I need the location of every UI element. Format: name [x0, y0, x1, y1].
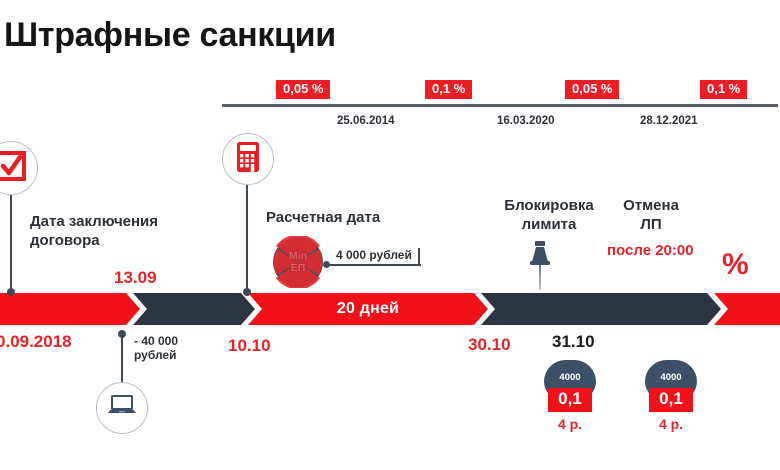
settlement-amount: 4 000 рублей: [336, 248, 412, 262]
payment-note: - 40 000 рублей: [134, 334, 214, 362]
payment-connector: [121, 334, 123, 382]
calculator-icon: [235, 141, 261, 178]
money-badge-1-rate: 0,1: [548, 388, 592, 412]
settlement-heading: Расчетная дата: [266, 208, 380, 227]
checkbox-checked-icon: [0, 150, 27, 187]
percent-symbol: %: [722, 248, 749, 282]
scale-rule: [222, 104, 778, 107]
min-ep-pie: Min ЕП: [270, 236, 326, 288]
amount-leader-tick: [418, 248, 420, 266]
amount-leader-line: [329, 264, 421, 266]
percent-badge-4: 0,1 %: [700, 80, 747, 99]
contract-node-circle: [0, 141, 38, 195]
contract-heading-line2: договора: [30, 231, 210, 250]
block-date-below: 30.10: [468, 335, 511, 355]
laptop-icon: [106, 393, 138, 424]
timeline-segment-3: 20 дней: [248, 293, 488, 325]
scale-date-1: 25.06.2014: [337, 115, 395, 127]
money-badge-2: 4000 0,1 4 р.: [645, 360, 697, 432]
cancel-heading-line2: ЛП: [606, 215, 696, 234]
scale-date-2: 16.03.2020: [497, 115, 555, 127]
money-badge-1-caption: 4 р.: [544, 416, 596, 432]
timeline-bar: 20 дней: [0, 293, 780, 325]
block-heading-line1: Блокировка: [494, 196, 604, 215]
timeline-segment-3-label: 20 дней: [248, 293, 488, 325]
cancel-heading-line1: Отмена: [606, 196, 696, 215]
payment-node-circle: [96, 382, 148, 434]
timeline-segment-2: [133, 293, 255, 325]
block-heading: Блокировка лимита: [494, 196, 604, 234]
settlement-node-circle: [222, 133, 274, 185]
percent-badge-1: 0,05 %: [276, 80, 330, 99]
contract-date-above: 13.09: [114, 268, 157, 288]
min-ep-label: Min ЕП: [270, 236, 326, 288]
money-badge-2-rate: 0,1: [649, 388, 693, 412]
min-ep-line1: Min: [289, 250, 307, 262]
money-badge-2-caption: 4 р.: [645, 416, 697, 432]
settlement-date-below: 10.10: [228, 336, 271, 356]
block-heading-line2: лимита: [494, 215, 604, 234]
page-title: Штрафные санкции: [4, 16, 336, 55]
contract-connector: [10, 195, 12, 291]
scale-date-3: 28.12.2021: [640, 115, 698, 127]
timeline-segment-4: [481, 293, 721, 325]
pushpin-icon: [527, 240, 553, 297]
cancel-date-below: 31.10: [552, 332, 595, 352]
payment-note-line2: рублей: [134, 348, 214, 362]
payment-note-line1: - 40 000: [134, 334, 214, 348]
money-badge-1: 4000 0,1 4 р.: [544, 360, 596, 432]
contract-heading: Дата заключения договора: [30, 212, 210, 250]
settlement-connector-dot: [243, 288, 251, 296]
percent-badge-3: 0,05 %: [565, 80, 619, 99]
percent-badge-2: 0,1 %: [425, 80, 472, 99]
timeline-segment-1: [0, 293, 140, 325]
infographic-canvas: Штрафные санкции 0,05 % 0,1 % 0,05 % 0,1…: [0, 0, 780, 470]
settlement-connector: [246, 185, 248, 291]
timeline-segment-5: [714, 293, 780, 325]
contract-connector-dot: [7, 288, 15, 296]
contract-date-below: 0.09.2018: [0, 332, 72, 352]
cancel-note: после 20:00: [607, 242, 694, 259]
cancel-heading: Отмена ЛП: [606, 196, 696, 234]
min-ep-line2: ЕП: [291, 262, 306, 274]
contract-heading-line1: Дата заключения: [30, 212, 210, 231]
